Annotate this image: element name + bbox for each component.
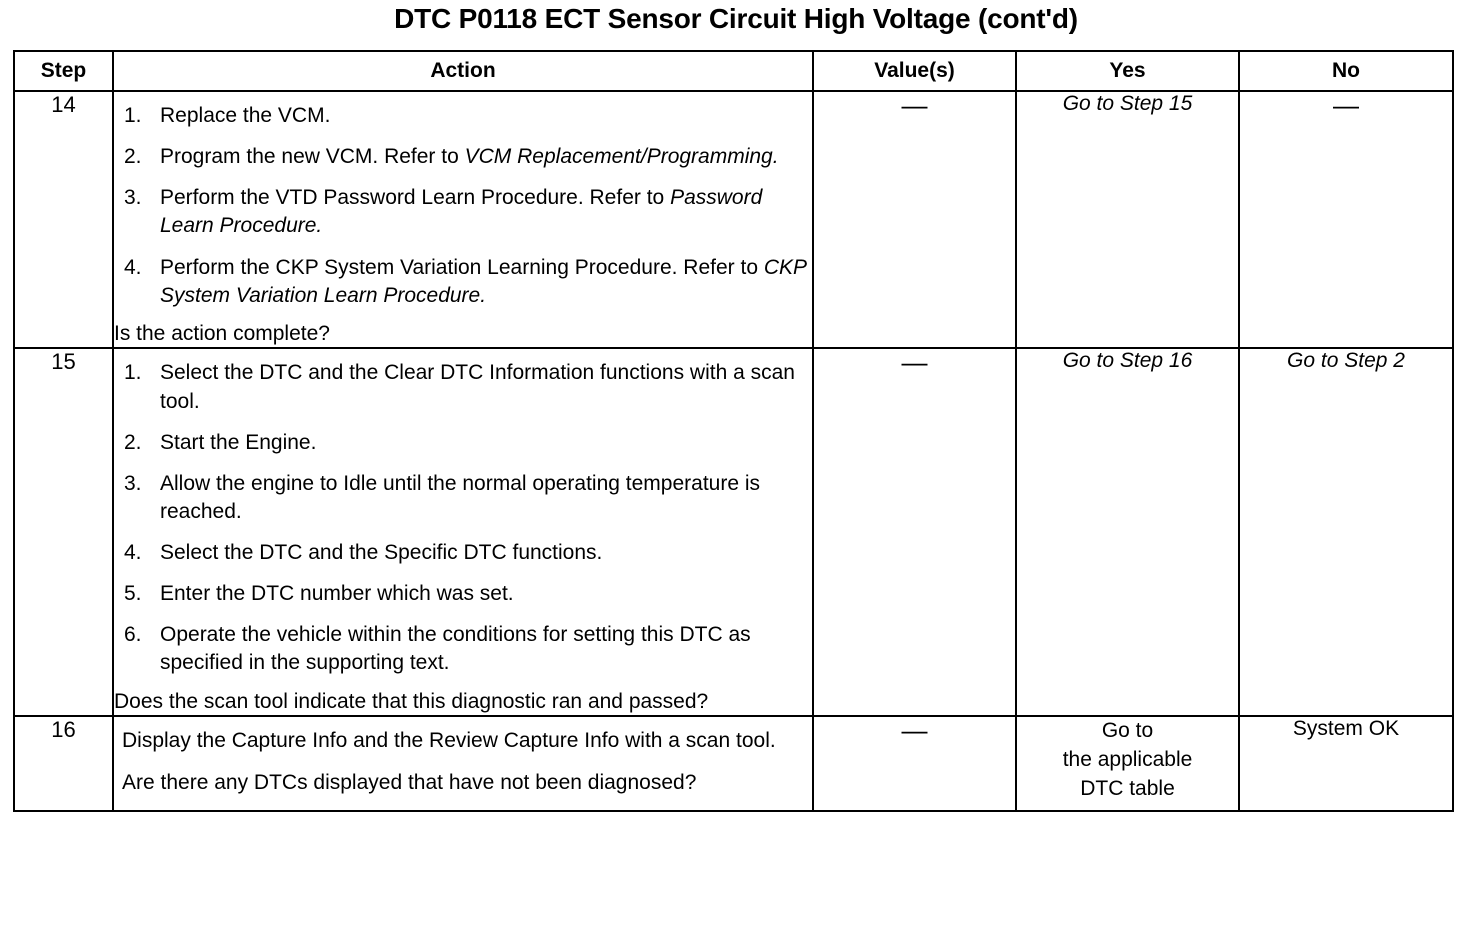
yes-goto-link[interactable]: Go to Step 16 [1017, 349, 1238, 381]
column-header-step: Step [14, 51, 113, 91]
list-marker: 4. [124, 539, 150, 567]
column-header-no: No [1239, 51, 1453, 91]
table-row: 14 1.Replace the VCM. 2.Program the new … [14, 91, 1453, 348]
column-header-action: Action [113, 51, 813, 91]
no-cell: — [1239, 91, 1453, 348]
list-marker: 2. [124, 143, 150, 171]
value-cell: — [813, 348, 1016, 716]
column-header-yes: Yes [1016, 51, 1239, 91]
value-cell: — [813, 91, 1016, 348]
table-row: 16 Display the Capture Info and the Revi… [14, 716, 1453, 811]
list-item: 2.Start the Engine. [114, 429, 812, 457]
no-cell: Go to Step 2 [1239, 348, 1453, 716]
action-cell: 1.Select the DTC and the Clear DTC Infor… [113, 348, 813, 716]
list-item-reference: VCM Replacement/Programming. [465, 145, 779, 168]
action-step-list: 1.Select the DTC and the Clear DTC Infor… [114, 359, 812, 677]
action-cell: Display the Capture Info and the Review … [113, 716, 813, 811]
list-item: 5.Enter the DTC number which was set. [114, 580, 812, 608]
yes-goto-link[interactable]: Go to Step 15 [1017, 92, 1238, 124]
action-step-list: 1.Replace the VCM. 2.Program the new VCM… [114, 102, 812, 310]
list-item: 1.Replace the VCM. [114, 102, 812, 130]
action-question: Does the scan tool indicate that this di… [114, 688, 812, 716]
list-item: 1.Select the DTC and the Clear DTC Infor… [114, 359, 812, 415]
list-item: 4.Select the DTC and the Specific DTC fu… [114, 539, 812, 567]
value-dash: — [902, 717, 928, 743]
no-cell: System OK [1239, 716, 1453, 811]
list-item-text: Enter the DTC number which was set. [160, 582, 514, 605]
list-item-text: Select the DTC and the Specific DTC func… [160, 541, 602, 564]
list-item-text: Perform the CKP System Variation Learnin… [160, 256, 764, 279]
value-dash: — [902, 349, 928, 375]
list-item-text: Select the DTC and the Clear DTC Informa… [160, 361, 795, 412]
list-marker: 3. [124, 470, 150, 498]
table-row: 15 1.Select the DTC and the Clear DTC In… [14, 348, 1453, 716]
value-dash: — [902, 92, 928, 118]
yes-cell: Go to Step 16 [1016, 348, 1239, 716]
list-item: 4.Perform the CKP System Variation Learn… [114, 254, 812, 310]
list-item-text: Operate the vehicle within the condition… [160, 623, 751, 674]
no-goto-link[interactable]: Go to Step 2 [1240, 349, 1452, 381]
list-item-text: Allow the engine to Idle until the norma… [160, 472, 760, 523]
step-number: 15 [14, 348, 113, 716]
list-marker: 5. [124, 580, 150, 608]
list-item: 2.Program the new VCM. Refer to VCM Repl… [114, 143, 812, 171]
action-cell: 1.Replace the VCM. 2.Program the new VCM… [113, 91, 813, 348]
list-marker: 2. [124, 429, 150, 457]
list-item-text: Start the Engine. [160, 431, 316, 454]
diagnostic-table: Step Action Value(s) Yes No 14 1.Replace… [13, 50, 1454, 812]
yes-cell: Go to Step 15 [1016, 91, 1239, 348]
column-header-value: Value(s) [813, 51, 1016, 91]
list-item-text: Program the new VCM. Refer to [160, 145, 465, 168]
list-item: 3.Perform the VTD Password Learn Procedu… [114, 184, 812, 240]
list-marker: 4. [124, 254, 150, 282]
table-header-row: Step Action Value(s) Yes No [14, 51, 1453, 91]
value-cell: — [813, 716, 1016, 811]
step-number: 16 [14, 716, 113, 811]
action-instruction: Display the Capture Info and the Review … [122, 727, 806, 755]
list-item: 3.Allow the engine to Idle until the nor… [114, 470, 812, 526]
no-result-label: System OK [1240, 717, 1452, 749]
list-marker: 1. [124, 359, 150, 387]
action-question: Are there any DTCs displayed that have n… [122, 769, 806, 797]
list-marker: 6. [124, 621, 150, 649]
no-dash: — [1333, 92, 1359, 118]
step-number: 14 [14, 91, 113, 348]
list-marker: 1. [124, 102, 150, 130]
list-marker: 3. [124, 184, 150, 212]
action-question: Is the action complete? [114, 320, 812, 348]
list-item-text: Replace the VCM. [160, 104, 330, 127]
yes-cell: Go to the applicable DTC table [1016, 716, 1239, 811]
document-page: DTC P0118 ECT Sensor Circuit High Voltag… [0, 0, 1472, 952]
page-title: DTC P0118 ECT Sensor Circuit High Voltag… [0, 2, 1472, 36]
list-item-text: Perform the VTD Password Learn Procedure… [160, 186, 670, 209]
yes-goto-link[interactable]: Go to the applicable DTC table [1017, 717, 1238, 810]
list-item: 6.Operate the vehicle within the conditi… [114, 621, 812, 677]
